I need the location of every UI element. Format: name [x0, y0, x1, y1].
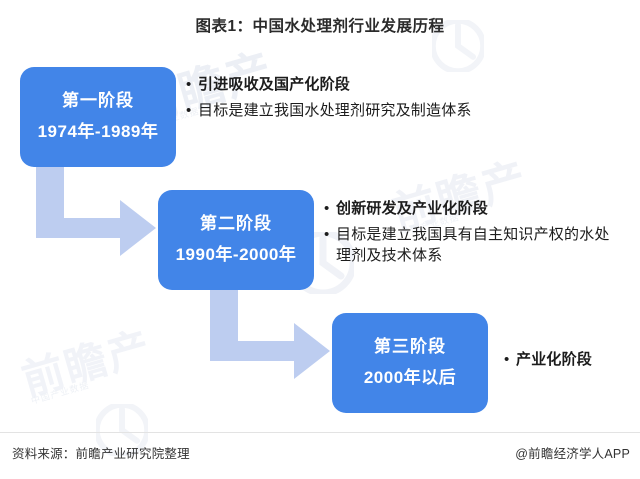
connector-arrow-stage2-to-stage3 [208, 289, 332, 386]
stage-2-bullet-list: • 创新研发及产业化阶段 • 目标是建立我国具有自主知识产权的水处理剂及技术体系 [324, 198, 616, 271]
footer-source-text: 资料来源：前瞻产业研究院整理 [12, 443, 190, 462]
stage-3-bullet-list: • 产业化阶段 [504, 349, 634, 375]
stage-1-period: 1974年-1989年 [38, 123, 159, 142]
stage-2-name: 第二阶段 [200, 215, 272, 234]
list-item: • 产业化阶段 [504, 349, 634, 370]
watermark-text: 前瞻产 [14, 313, 158, 408]
stage-box-2[interactable]: 第二阶段 1990年-2000年 [158, 190, 314, 290]
stage-1-bullet-2-text: 目标是建立我国水处理剂研究及制造体系 [198, 100, 472, 121]
stage-1-bullet-1-text: 引进吸收及国产化阶段 [198, 74, 350, 95]
stage-2-bullet-2-text: 目标是建立我国具有自主知识产权的水处理剂及技术体系 [336, 224, 616, 266]
chart-canvas: 前瞻产 前瞻产 前瞻产 中国产业数据 中国产业数据 中国产业数据 图表1：中国水… [0, 0, 640, 479]
stage-box-3[interactable]: 第三阶段 2000年以后 [332, 313, 488, 413]
list-item: • 引进吸收及国产化阶段 [186, 74, 476, 95]
list-item: • 创新研发及产业化阶段 [324, 198, 616, 219]
stage-3-period: 2000年以后 [364, 369, 456, 388]
bullet-dot-icon: • [186, 100, 198, 121]
bullet-dot-icon: • [324, 198, 336, 219]
stage-box-1[interactable]: 第一阶段 1974年-1989年 [20, 67, 176, 167]
stage-1-bullet-list: • 引进吸收及国产化阶段 • 目标是建立我国水处理剂研究及制造体系 [186, 74, 476, 126]
stage-3-name: 第三阶段 [374, 338, 446, 357]
footer-brand-text: @前瞻经济学人APP [515, 443, 630, 462]
footer-divider [0, 432, 640, 433]
page-title: 图表1：中国水处理剂行业发展历程 [0, 14, 640, 36]
bullet-dot-icon: • [186, 74, 198, 95]
list-item: • 目标是建立我国水处理剂研究及制造体系 [186, 100, 476, 121]
bullet-dot-icon: • [324, 224, 336, 245]
watermark-subtext: 中国产业数据 [29, 378, 90, 407]
stage-2-period: 1990年-2000年 [176, 246, 297, 265]
stage-3-bullet-1-text: 产业化阶段 [516, 349, 592, 370]
list-item: • 目标是建立我国具有自主知识产权的水处理剂及技术体系 [324, 224, 616, 266]
connector-arrow-stage1-to-stage2 [34, 166, 158, 263]
bullet-dot-icon: • [504, 349, 516, 370]
stage-1-name: 第一阶段 [62, 92, 134, 111]
stage-2-bullet-1-text: 创新研发及产业化阶段 [336, 198, 488, 219]
